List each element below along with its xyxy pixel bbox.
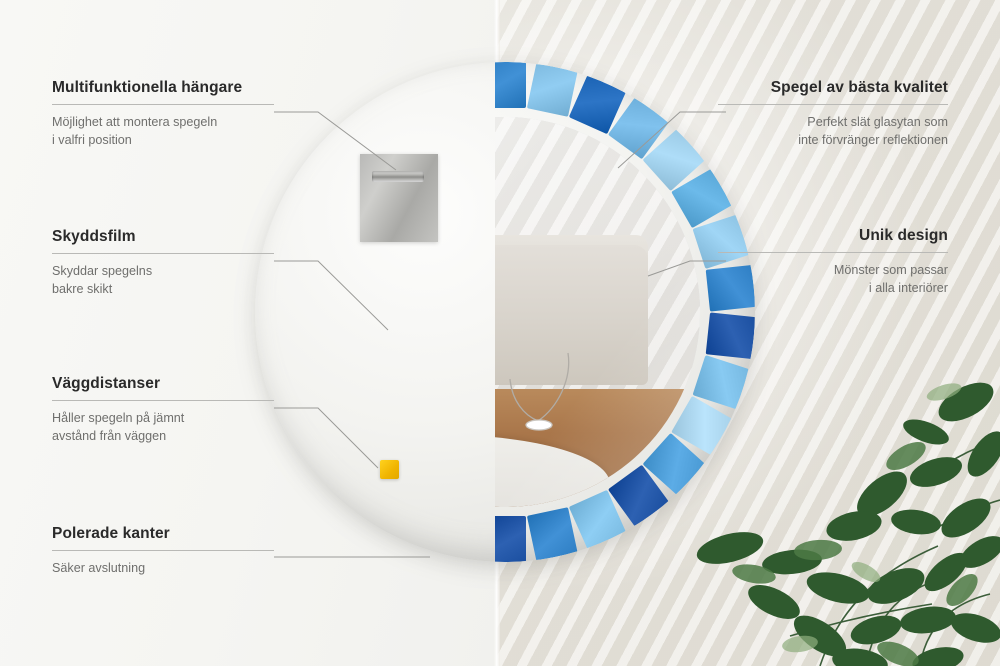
product-mirror (255, 62, 755, 562)
callout-skyddsfilm: Skyddsfilm Skyddar spegelns bakre skikt (52, 228, 274, 299)
callout-description: Säker avslutning (52, 560, 274, 578)
mounting-hanger-plate (360, 154, 438, 242)
callout-title: Polerade kanter (52, 525, 274, 543)
wall-spacer-block (380, 460, 399, 479)
callout-unik-design: Unik design Mönster som passar i alla in… (718, 227, 948, 298)
callout-description: Perfekt slät glasytan som inte förvränge… (718, 114, 948, 150)
callout-polerade-kanter: Polerade kanter Säker avslutning (52, 525, 274, 578)
callout-vaggdistanser: Väggdistanser Håller spegeln på jämnt av… (52, 375, 274, 446)
callout-description: Håller spegeln på jämnt avstånd från väg… (52, 410, 274, 446)
callout-rule (52, 550, 274, 551)
callout-rule (52, 400, 274, 401)
callout-description: Skyddar spegelns bakre skikt (52, 263, 274, 299)
callout-multifunktionella-hangare: Multifunktionella hängare Möjlighet att … (52, 79, 274, 150)
hanger-keyhole-slot (372, 171, 424, 182)
callout-description: Mönster som passar i alla interiörer (718, 262, 948, 298)
callout-rule (718, 104, 948, 105)
callout-title: Multifunktionella hängare (52, 79, 274, 97)
callout-rule (718, 252, 948, 253)
callout-rule (52, 104, 274, 105)
callout-rule (52, 253, 274, 254)
reflected-floor-lamp (498, 349, 584, 437)
callout-description: Möjlighet att montera spegeln i valfri p… (52, 114, 274, 150)
callout-title: Spegel av bästa kvalitet (718, 79, 948, 97)
infographic-canvas: Multifunktionella hängare Möjlighet att … (0, 0, 1000, 666)
callout-title: Väggdistanser (52, 375, 274, 393)
callout-title: Unik design (718, 227, 948, 245)
callout-title: Skyddsfilm (52, 228, 274, 246)
callout-spegel-av-basta-kvalitet: Spegel av bästa kvalitet Perfekt slät gl… (718, 79, 948, 150)
